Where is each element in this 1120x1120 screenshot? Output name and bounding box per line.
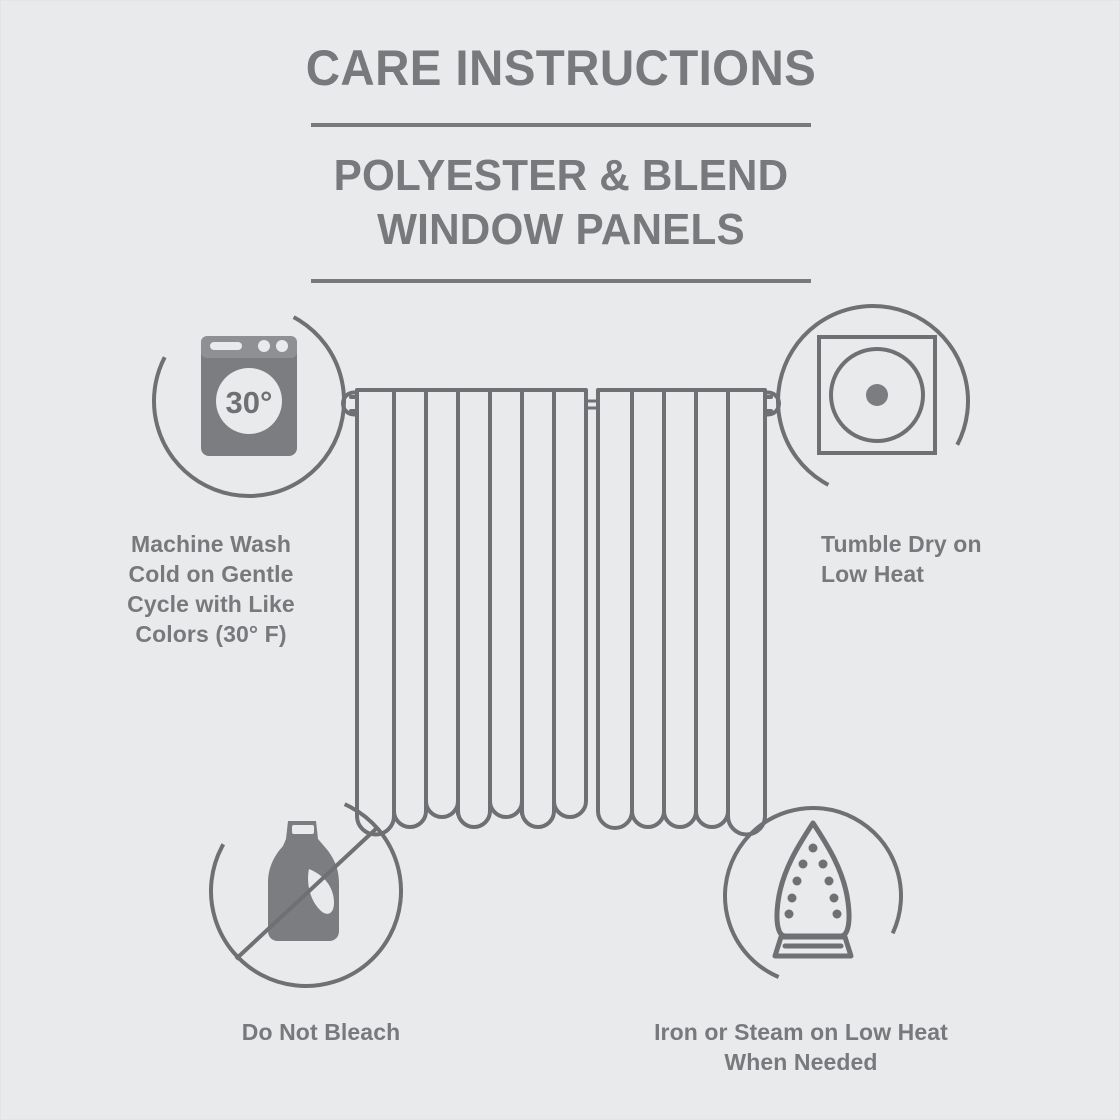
- caption-tumble-dry: Tumble Dry on Low Heat: [821, 529, 1101, 589]
- caption-iron-line-1: Iron or Steam on Low Heat: [601, 1017, 1001, 1047]
- caption-wash-line-1: Machine Wash: [66, 529, 356, 559]
- caption-iron-line-2: When Needed: [601, 1047, 1001, 1077]
- caption-iron: Iron or Steam on Low Heat When Needed: [601, 1017, 1001, 1077]
- washing-machine-icon: 30°: [149, 301, 349, 501]
- caption-wash-line-3: Cycle with Like: [66, 589, 356, 619]
- washer-temperature-label: 30°: [226, 385, 273, 420]
- caption-machine-wash: Machine Wash Cold on Gentle Cycle with L…: [66, 529, 356, 649]
- iron-steam-icon: [713, 796, 913, 996]
- caption-do-not-bleach: Do Not Bleach: [166, 1017, 476, 1047]
- tumble-dry-icon: [773, 301, 973, 501]
- dry-center-dot: [866, 384, 888, 406]
- do-not-bleach-icon: [206, 791, 406, 991]
- page-subtitle: POLYESTER & BLEND WINDOW PANELS: [23, 149, 1098, 257]
- care-instructions-graphic: CARE INSTRUCTIONS POLYESTER & BLEND WIND…: [0, 0, 1120, 1120]
- subtitle-line-2: WINDOW PANELS: [23, 203, 1098, 257]
- divider-bottom: [311, 279, 811, 283]
- bleach-bottle: [268, 821, 339, 941]
- caption-bleach-line-1: Do Not Bleach: [166, 1017, 476, 1047]
- washer-body: 30°: [201, 336, 297, 456]
- caption-wash-line-4: Colors (30° F): [66, 619, 356, 649]
- subtitle-line-1: POLYESTER & BLEND: [23, 149, 1098, 203]
- iron-soleplate: [775, 823, 851, 956]
- page-title: CARE INSTRUCTIONS: [29, 39, 1093, 97]
- divider-top: [311, 123, 811, 127]
- caption-dry-line-1: Tumble Dry on: [821, 529, 1101, 559]
- caption-wash-line-2: Cold on Gentle: [66, 559, 356, 589]
- iron-ring: [694, 777, 932, 1015]
- caption-dry-line-2: Low Heat: [821, 559, 1101, 589]
